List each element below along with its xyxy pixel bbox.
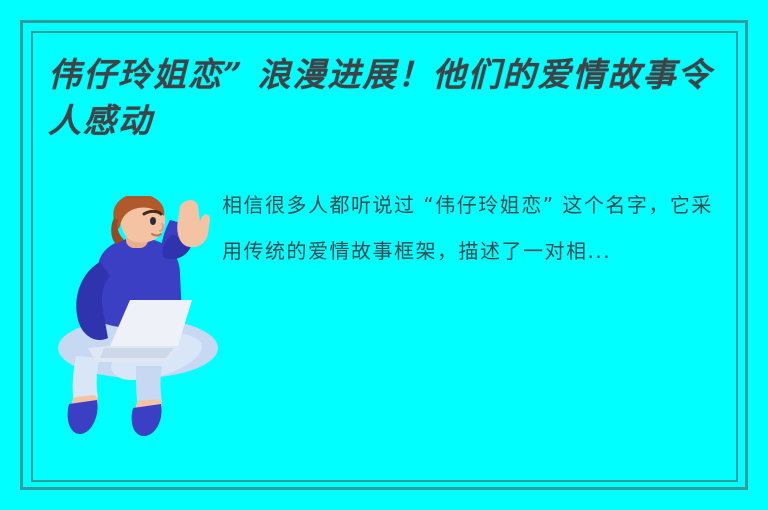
shoe-left <box>68 400 98 434</box>
hand-waving <box>177 200 210 247</box>
page-title: 伟仔玲姐恋” 浪漫进展！他们的爱情故事令人感动 <box>48 52 728 144</box>
article-excerpt: 相信很多人都听说过 “伟仔玲姐恋” 这个名字，它采用传统的爱情故事框架，描述了一… <box>222 182 722 274</box>
laptop-keyboard-shade <box>100 348 174 358</box>
eye <box>150 217 156 225</box>
shin-left <box>73 356 100 402</box>
person-with-laptop-illustration <box>52 196 222 436</box>
article-card: 伟仔玲姐恋” 浪漫进展！他们的爱情故事令人感动 <box>0 0 768 510</box>
shoe-right <box>132 404 162 436</box>
